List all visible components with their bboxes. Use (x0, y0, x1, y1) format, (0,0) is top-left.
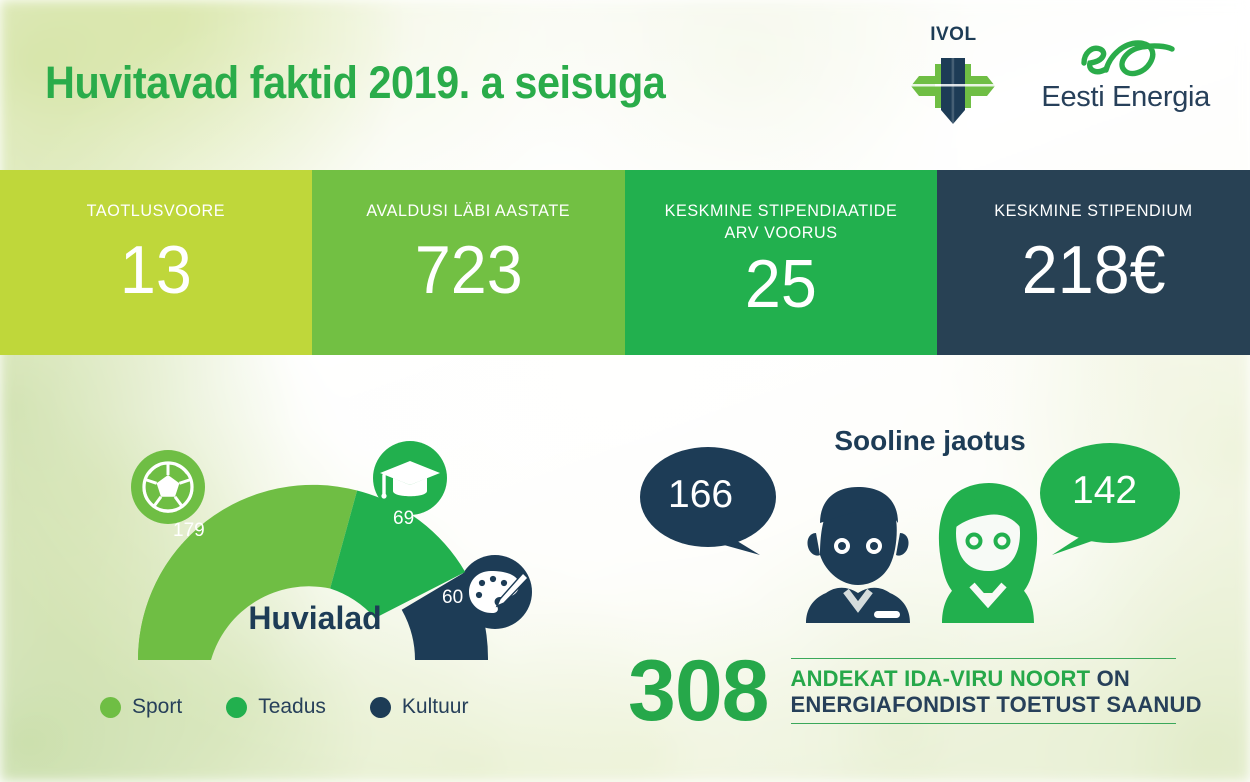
ivol-logo-text: IVOL (930, 24, 976, 46)
stat-card-label: TAOTLUSVOORE (87, 200, 225, 222)
bottom-stat-line-1: ANDEKAT IDA-VIRU NOORT ON (791, 666, 1176, 692)
stat-card-label: KESKMINE STIPENDIUM (994, 200, 1192, 222)
header: Huvitavad faktid 2019. a seisuga IVOL (0, 0, 1250, 168)
ivol-logo: IVOL (911, 24, 995, 126)
stat-card-value: 723 (415, 236, 523, 304)
legend-item-sport[interactable]: Sport (100, 695, 182, 719)
segment-value-sport: 179 (173, 520, 205, 542)
stat-card-avaldusi: AVALDUSI LÄBI AASTATE 723 (312, 170, 625, 355)
bottom-stat-line-1-green: ANDEKAT IDA-VIRU NOORT (791, 666, 1091, 691)
legend-label: Teadus (258, 695, 326, 719)
eo-swirl-icon (1076, 37, 1176, 85)
donut-center-title: Huvialad (55, 600, 575, 637)
stat-bar: TAOTLUSVOORE 13 AVALDUSI LÄBI AASTATE 72… (0, 170, 1250, 355)
legend-label: Kultuur (402, 695, 469, 719)
female-avatar-icon (939, 483, 1037, 623)
bottom-highlight-stat: 308 ANDEKAT IDA-VIRU NOORT ON ENERGIAFON… (628, 648, 1176, 734)
legend-dot-icon (100, 697, 121, 718)
legend-dot-icon (226, 697, 247, 718)
stat-card-label: AVALDUSI LÄBI AASTATE (367, 200, 571, 222)
legend-dot-icon (370, 697, 391, 718)
donut-legend: Sport Teadus Kultuur (100, 695, 468, 719)
page-title: Huvitavad faktid 2019. a seisuga (45, 57, 665, 109)
legend-item-kultuur[interactable]: Kultuur (370, 695, 469, 719)
eesti-energia-wordmark: Eesti Energia (1041, 81, 1210, 114)
stat-card-value: 25 (745, 250, 817, 318)
male-avatar-icon (806, 487, 910, 623)
gender-illustration (620, 415, 1220, 630)
logo-group: IVOL Eesti Energia (911, 24, 1210, 126)
eesti-energia-logo: Eesti Energia (1041, 37, 1210, 114)
bottom-stat-line-1-navy: ON (1097, 666, 1130, 691)
stat-card-taotlusvoore: TAOTLUSVOORE 13 (0, 170, 312, 355)
gender-distribution: Sooline jaotus (620, 415, 1220, 630)
bottom-stat-number: 308 (628, 648, 769, 734)
legend-label: Sport (132, 695, 182, 719)
bottom-stat-textbox: ANDEKAT IDA-VIRU NOORT ON ENERGIAFONDIST… (791, 658, 1176, 725)
ivol-shield-icon (911, 48, 995, 128)
bottom-stat-line-2: ENERGIAFONDIST TOETUST SAANUD (791, 692, 1176, 718)
female-count: 142 (1072, 469, 1137, 513)
stat-card-stipendiaatide-arv: KESKMINE STIPENDIAATIDE ARV VOORUS 25 (625, 170, 937, 355)
segment-value-teadus: 69 (393, 508, 414, 530)
stat-card-label: KESKMINE STIPENDIAATIDE ARV VOORUS (658, 200, 905, 244)
legend-item-teadus[interactable]: Teadus (226, 695, 326, 719)
infographic-page: Huvitavad faktid 2019. a seisuga IVOL (0, 0, 1250, 782)
stat-card-value: 13 (120, 236, 192, 304)
male-count: 166 (668, 473, 733, 517)
stat-card-keskmine-stipendium: KESKMINE STIPENDIUM 218€ (937, 170, 1250, 355)
donut-svg (55, 395, 575, 685)
stat-card-value: 218€ (1022, 236, 1166, 304)
huvialad-half-donut-chart: 179 69 60 Huvialad (55, 395, 575, 685)
